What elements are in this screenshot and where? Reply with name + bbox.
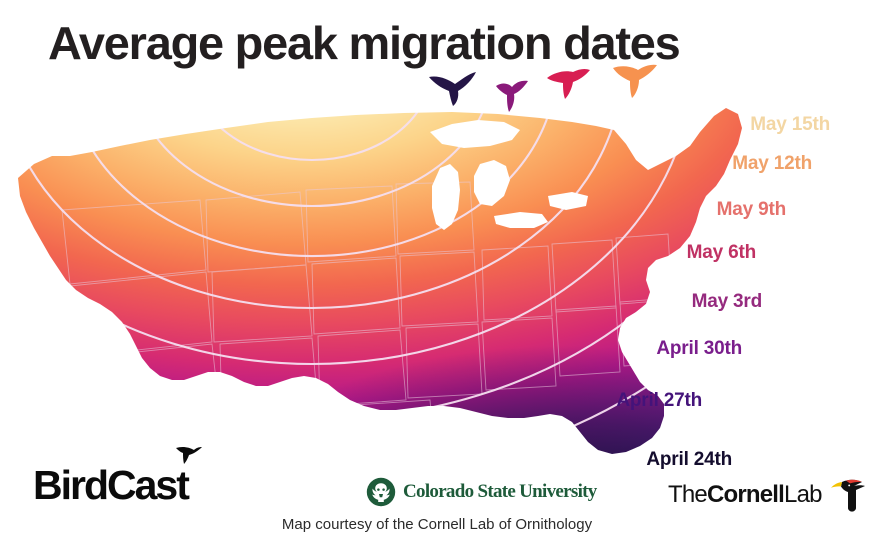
cornell-cornell: Cornell [707, 481, 784, 508]
contour-label-may-9: May 9th [717, 199, 786, 221]
bird-purple-icon [495, 78, 529, 112]
bird-orange-icon [612, 64, 658, 98]
bird-crimson-icon [545, 68, 591, 100]
bird-silhouette-icon [176, 446, 202, 464]
contour-label-may-3: May 3rd [692, 291, 762, 313]
contour-label-april-27: April 27th [616, 390, 702, 412]
migration-map [0, 60, 874, 480]
cornell-lab: Lab [784, 481, 822, 508]
woodpecker-icon [826, 478, 866, 512]
map-caption: Map courtesy of the Cornell Lab of Ornit… [0, 516, 874, 533]
bird-navy-icon [428, 70, 478, 106]
contour-label-may-12: May 12th [732, 153, 812, 175]
contour-label-may-6: May 6th [687, 242, 756, 264]
cornell-lab-label: TheCornellLab [668, 481, 822, 509]
map-svg [0, 60, 874, 480]
contour-label-april-24: April 24th [646, 449, 732, 471]
cornell-lab-logo: TheCornellLab [668, 478, 866, 512]
infographic-canvas: Average peak migration dates [0, 0, 874, 551]
csu-logo: Colorado State University [366, 477, 597, 507]
birdcast-logo: BirdCast [33, 462, 188, 509]
ram-head-icon [366, 477, 396, 507]
map-fill-layer [0, 60, 874, 480]
contour-label-april-30: April 30th [656, 338, 742, 360]
cornell-the: The [668, 481, 707, 508]
csu-label: Colorado State University [403, 481, 597, 503]
contour-label-may-15: May 15th [750, 114, 830, 136]
